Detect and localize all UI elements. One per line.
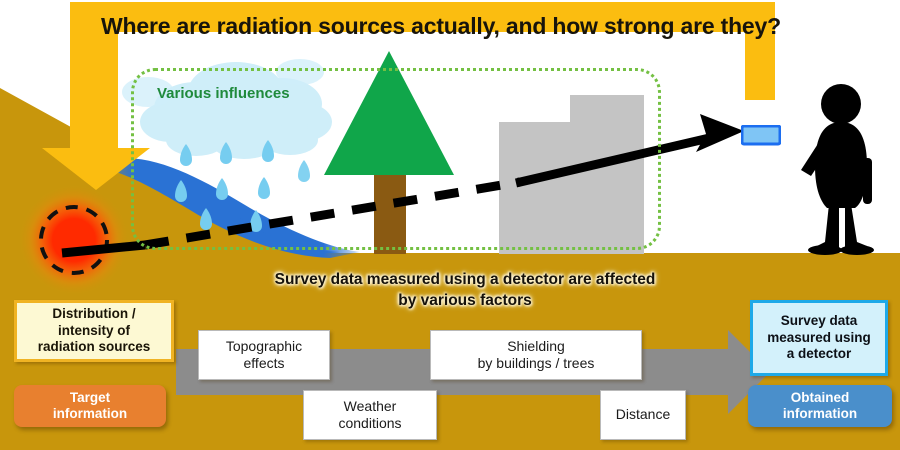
diagram-canvas: Where are radiation sources actually, an… <box>0 0 900 450</box>
obtained-info-line1: Survey data <box>781 313 858 328</box>
factor-1-line2: conditions <box>338 415 401 431</box>
target-information-box: Distribution / intensity of radiation so… <box>14 300 174 362</box>
obtained-info-line3: a detector <box>787 346 852 361</box>
scene-caption-line1: Survey data measured using a detector ar… <box>275 271 656 288</box>
factor-shielding: Shielding by buildings / trees <box>430 330 642 380</box>
target-pill-line1: Target <box>70 390 110 405</box>
obtained-pill-line2: information <box>783 406 857 421</box>
obtained-information-box: Survey data measured using a detector <box>750 300 888 376</box>
obtained-pill-line1: Obtained <box>791 390 850 405</box>
factor-weather-conditions: Weather conditions <box>303 390 437 440</box>
factor-2-line2: by buildings / trees <box>478 355 595 371</box>
factor-topographic-effects: Topographic effects <box>198 330 330 380</box>
factor-1-line1: Weather <box>344 398 397 414</box>
factor-0-line2: effects <box>244 355 285 371</box>
scene-caption: Survey data measured using a detector ar… <box>230 270 700 312</box>
flow-arrow <box>0 0 900 450</box>
target-info-line2: intensity of <box>58 323 130 338</box>
person-silhouette <box>795 84 887 256</box>
factor-0-line1: Topographic <box>226 338 302 354</box>
obtained-info-line2: measured using <box>767 330 871 345</box>
target-information-pill: Target information <box>14 385 166 427</box>
target-info-line3: radiation sources <box>38 339 151 354</box>
scene-caption-line2: by various factors <box>398 292 532 309</box>
factor-2-line1: Shielding <box>507 338 565 354</box>
factor-distance: Distance <box>600 390 686 440</box>
detector-device-icon <box>741 125 781 147</box>
target-pill-line2: information <box>53 406 127 421</box>
target-info-line1: Distribution / <box>52 306 135 321</box>
obtained-information-pill: Obtained information <box>748 385 892 427</box>
factor-3-line1: Distance <box>616 406 670 422</box>
